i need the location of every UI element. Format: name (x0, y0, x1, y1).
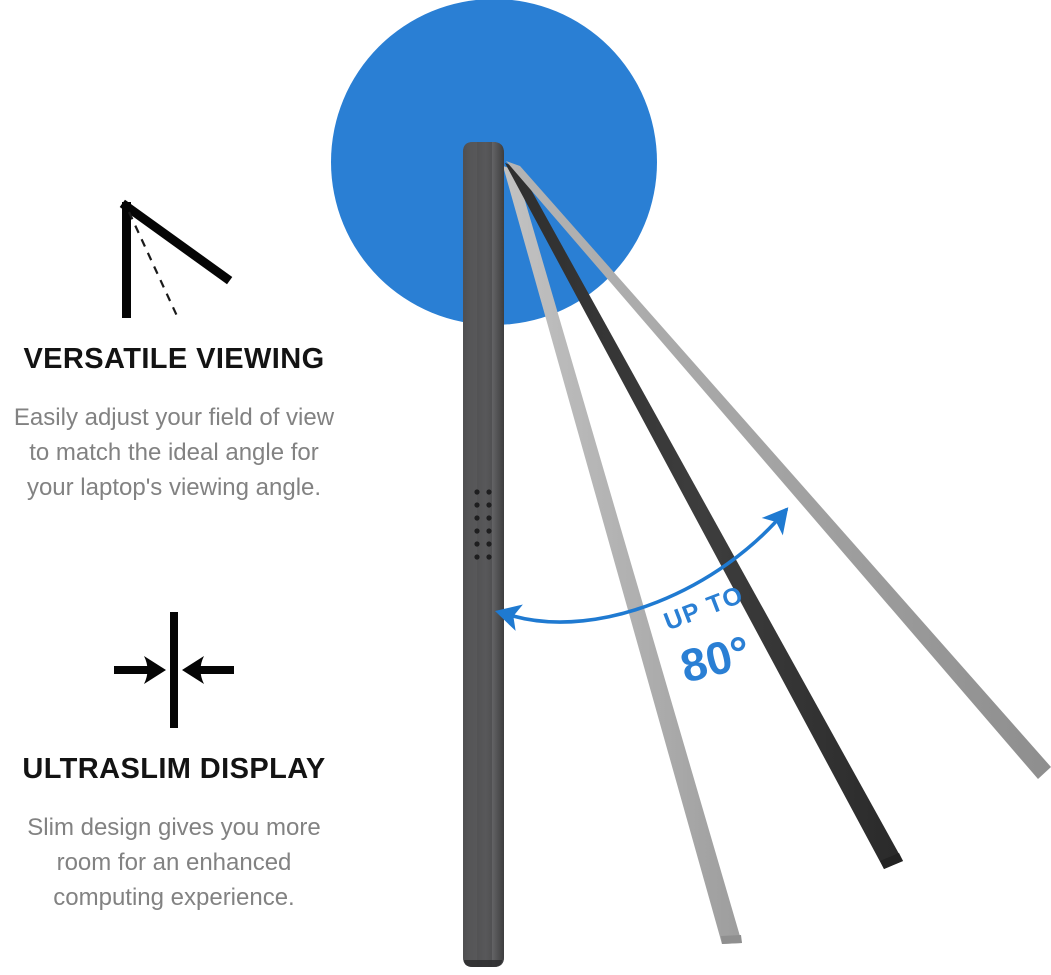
feature-ultraslim-display: ULTRASLIM DISPLAY Slim design gives you … (0, 600, 348, 915)
feature-description: Slim design gives you more room for an e… (24, 810, 324, 915)
stand-leg-dark (505, 163, 903, 869)
feature-versatile-viewing: VERSATILE VIEWING Easily adjust your fie… (0, 190, 348, 505)
thickness-arrows-icon (0, 600, 348, 732)
infographic-page: UP TO 80° VERSATILE VIEWING Easily adjus… (0, 0, 1051, 975)
feature-title: VERSATILE VIEWING (0, 344, 348, 376)
feature-description: Easily adjust your field of view to matc… (9, 400, 339, 505)
monitor-body-side-profile (463, 142, 504, 967)
adjustable-hinge-icon (0, 190, 348, 322)
feature-title: ULTRASLIM DISPLAY (0, 754, 348, 786)
stand-leg-mid-gray (506, 161, 1051, 779)
